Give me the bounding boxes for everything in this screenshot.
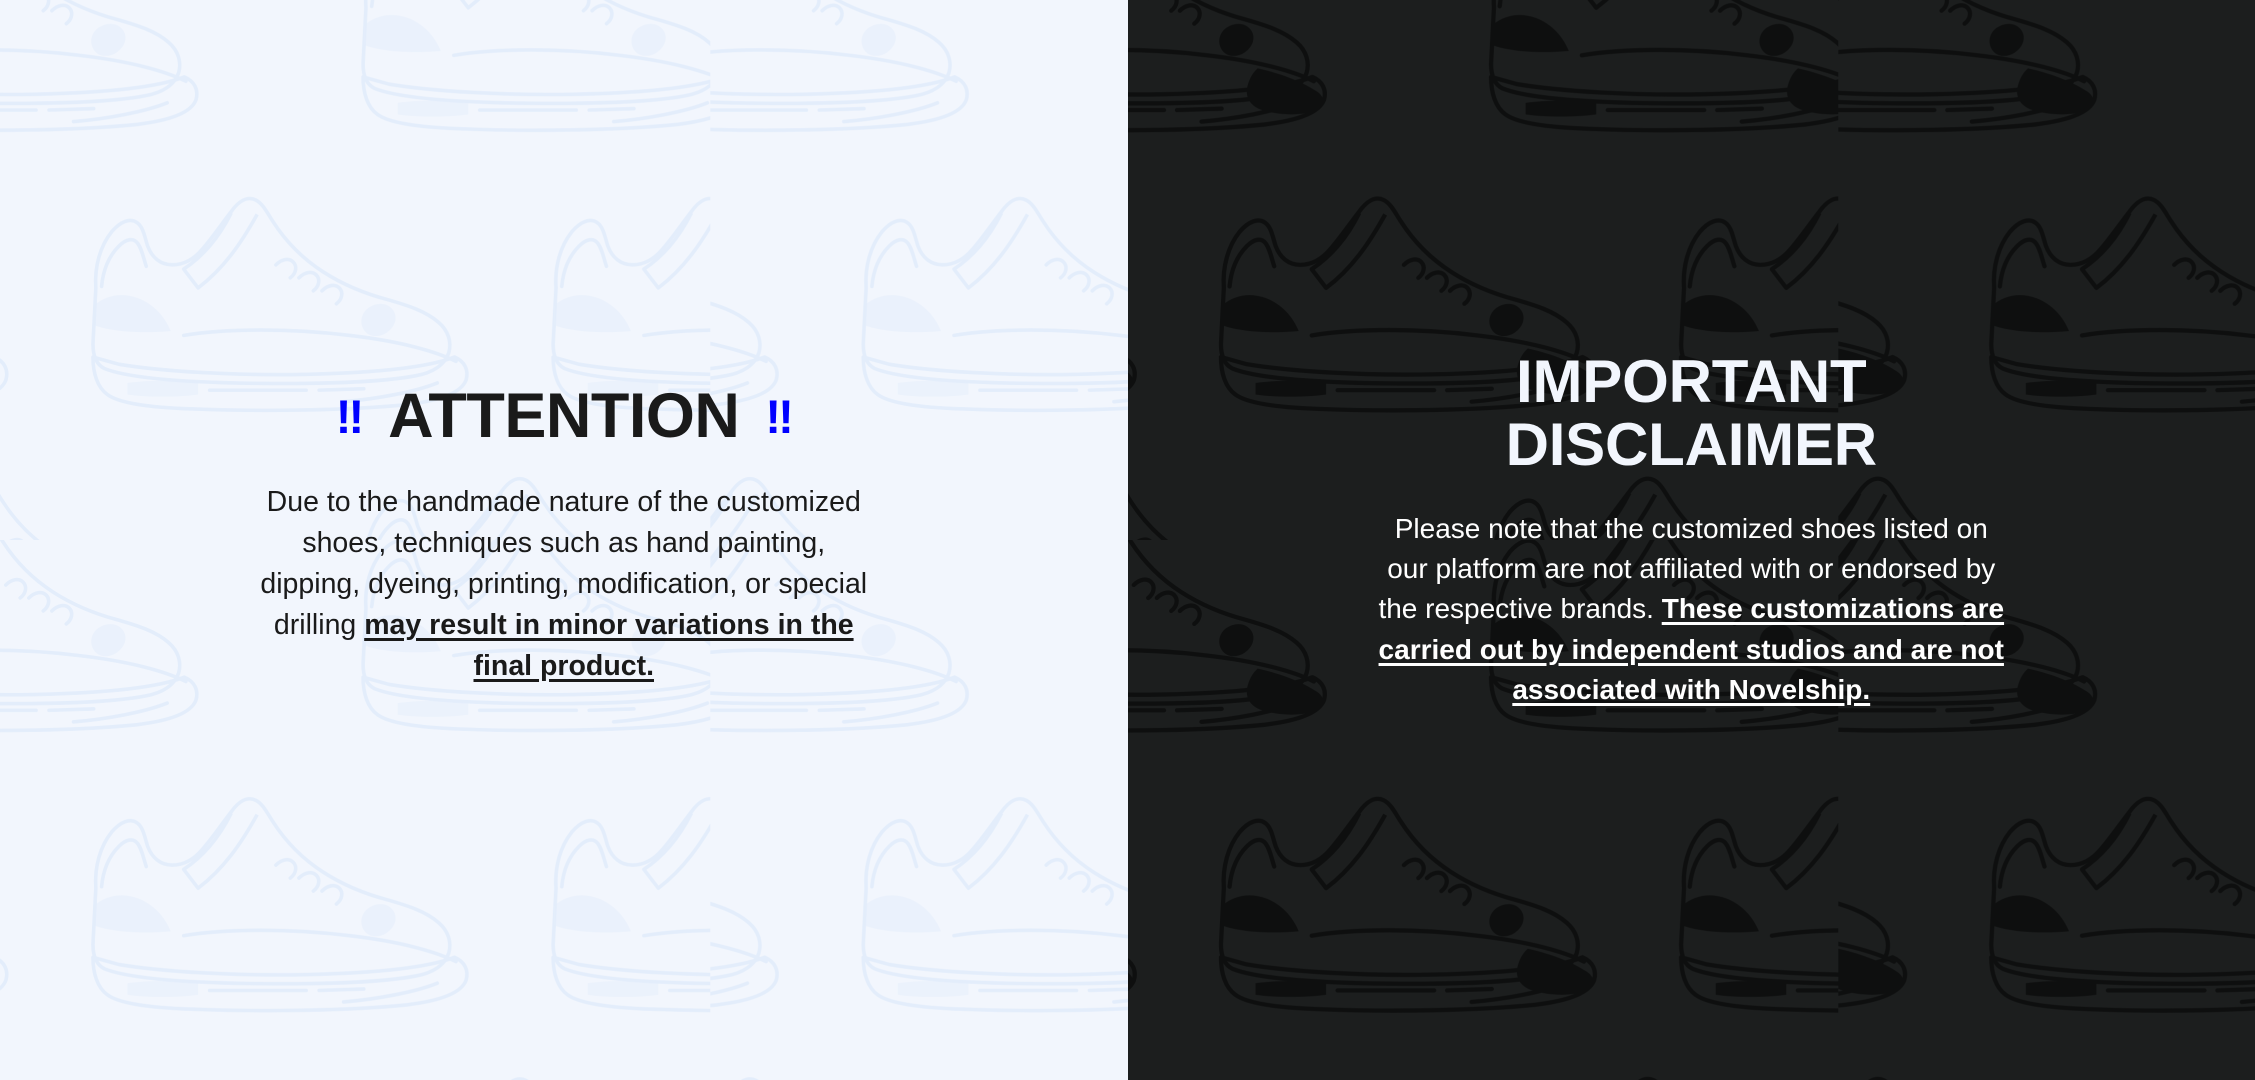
attention-body-emphasis: may result in minor variations in the fi… [364, 609, 853, 682]
double-exclamation-right-icon: ‼ [765, 393, 791, 440]
double-exclamation-left-icon: ‼ [336, 393, 362, 440]
disclaimer-panel: IMPORTANTDISCLAIMER Please note that the… [1128, 0, 2255, 1080]
disclaimer-heading-line-1: IMPORTANT [1516, 348, 1866, 415]
dual-panel-banner: ‼ATTENTION‼ Due to the handmade nature o… [0, 0, 2255, 1080]
disclaimer-heading-line-2: DISCLAIMER [1506, 411, 1877, 478]
disclaimer-heading: IMPORTANTDISCLAIMER [1168, 350, 2216, 477]
attention-heading-text: ATTENTION [388, 381, 739, 451]
disclaimer-content: IMPORTANTDISCLAIMER Please note that the… [1128, 350, 2255, 711]
attention-content: ‼ATTENTION‼ Due to the handmade nature o… [0, 385, 1128, 686]
disclaimer-body: Please note that the customized shoes li… [1371, 509, 2011, 711]
attention-heading: ‼ATTENTION‼ [40, 385, 1088, 448]
attention-body: Due to the handmade nature of the custom… [254, 482, 874, 686]
attention-panel: ‼ATTENTION‼ Due to the handmade nature o… [0, 0, 1128, 1080]
